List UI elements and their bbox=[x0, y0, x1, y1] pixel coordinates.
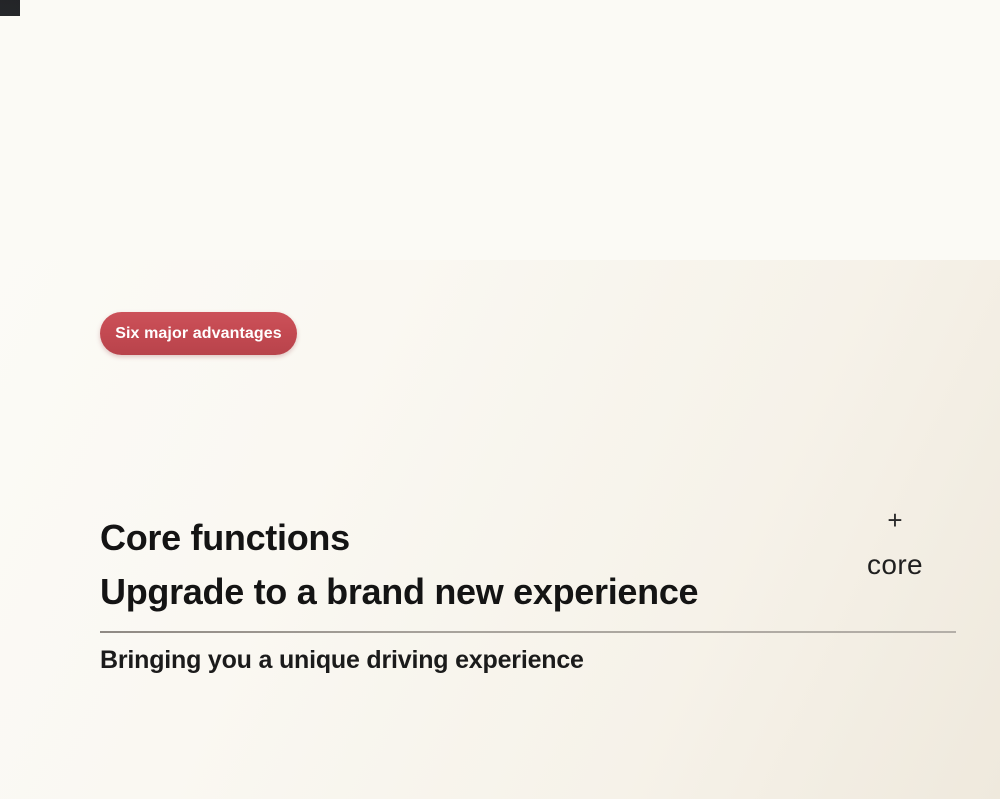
headline-group: Core functions Upgrade to a brand new ex… bbox=[100, 516, 800, 614]
headline-subtitle: Bringing you a unique driving experience bbox=[100, 642, 584, 678]
photo-curve-mask-inner bbox=[20, 0, 1000, 260]
photo-curve-mask bbox=[0, 16, 1000, 260]
headline-divider bbox=[100, 631, 956, 633]
advantages-badge: Six major advantages bbox=[100, 312, 297, 355]
core-callout-label: core bbox=[835, 550, 955, 580]
car-interior-photo bbox=[0, 0, 1000, 260]
headline-secondary: Upgrade to a brand new experience bbox=[100, 570, 800, 614]
core-callout: + core bbox=[835, 508, 955, 580]
headline-primary: Core functions bbox=[100, 516, 800, 560]
advantages-badge-label: Six major advantages bbox=[115, 325, 282, 343]
feature-banner: Six major advantages Core functions Upgr… bbox=[0, 0, 1000, 799]
plus-icon: + bbox=[835, 508, 955, 532]
